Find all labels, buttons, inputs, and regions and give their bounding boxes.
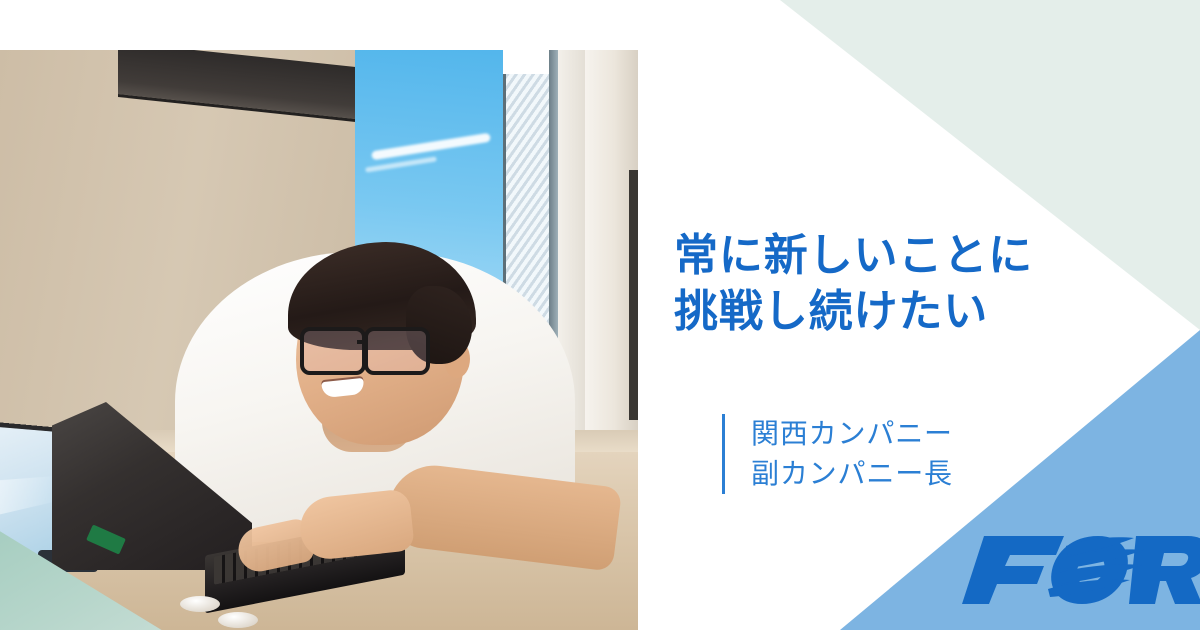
subtitle-line-title: 副カンパニー長: [751, 454, 953, 494]
desk-object-round-1: [180, 596, 220, 612]
interview-photo: [0, 50, 638, 630]
subtitle-block: 関西カンパニー 副カンパニー長: [722, 414, 953, 494]
interview-hero-banner: 常に新しいことに 挑戦し続けたい 関西カンパニー 副カンパニー長: [0, 0, 1200, 630]
headline: 常に新しいことに 挑戦し続けたい: [674, 228, 1033, 341]
desk-object-round-2: [218, 612, 258, 628]
subtitle-line-company: 関西カンパニー: [751, 414, 953, 454]
glasses-left-lens: [300, 327, 366, 375]
photo-scene: [0, 50, 638, 630]
glasses-right-lens: [364, 327, 430, 375]
forva-logo: [948, 522, 1200, 608]
dark-wall-edge: [629, 170, 638, 420]
glasses-bridge: [357, 340, 367, 344]
